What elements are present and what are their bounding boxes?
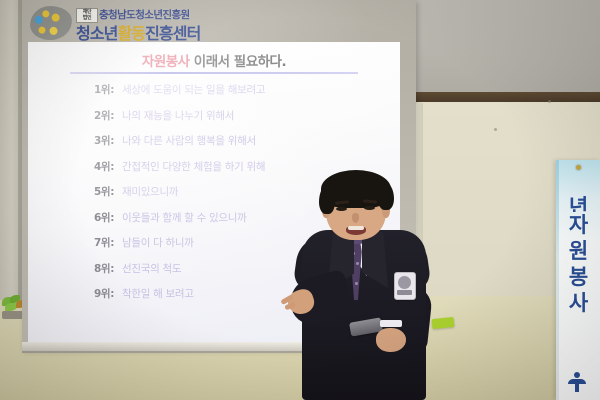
- item-text: 나와 다른 사람의 행복을 위해서: [122, 133, 256, 148]
- presenter-shirt-cuff: [380, 320, 402, 327]
- list-item: 2위: 나의 재능을 나누기 위해서: [28, 104, 400, 130]
- banner-char: 원: [556, 238, 600, 264]
- item-text: 이웃들과 함께 할 수 있으니까: [122, 210, 246, 225]
- wall-mark: [494, 128, 497, 131]
- slide-title-highlight: 자원봉사: [142, 54, 190, 70]
- presenter-name-badge: [394, 272, 416, 300]
- wall-trim-rail: [412, 92, 600, 102]
- banner-char: 봉: [556, 264, 600, 290]
- item-text: 재미있으니까: [122, 184, 178, 199]
- screenshot-scene: 재단 법인 충청남도청소년진흥원 청소년활동진흥센터 자원봉사 이래서 필요하다…: [0, 0, 600, 400]
- presenter-teeth: [348, 226, 364, 230]
- wall-screw: [548, 100, 551, 103]
- item-text: 남들이 다 하니까: [122, 235, 194, 250]
- item-text: 선진국의 척도: [122, 261, 181, 276]
- item-text: 나의 재능을 나누기 위해서: [122, 108, 234, 123]
- organization-logo: 재단 법인 충청남도청소년진흥원 청소년활동진흥센터: [30, 4, 210, 42]
- item-text: 간접적인 다양한 체험을 하기 위해: [122, 159, 265, 174]
- presenter-right-hand: [376, 328, 406, 352]
- presenter-hair-side-right: [378, 182, 394, 210]
- presenter-hair-side-left: [319, 184, 335, 214]
- presenter-eye-right: [364, 206, 375, 210]
- slide-title: 자원봉사 이래서 필요하다.: [28, 50, 400, 70]
- item-rank: 4위:: [72, 159, 114, 174]
- title-underline: [70, 72, 358, 74]
- presenter-eye-left: [336, 207, 347, 211]
- banner-char: 자: [556, 212, 600, 238]
- item-rank: 5위:: [72, 184, 114, 199]
- item-text: 착한일 해 보려고: [122, 286, 194, 301]
- item-text: 세상에 도움이 되는 일을 해보려고: [122, 82, 265, 97]
- item-rank: 3위:: [72, 133, 114, 148]
- badge-text-block: [397, 290, 412, 295]
- logo-center-part-1: 청소년: [76, 24, 117, 43]
- list-item: 1위: 세상에 도움이 되는 일을 해보려고: [28, 78, 400, 104]
- logo-center-part-2: 활동: [117, 24, 145, 43]
- presenter: [288, 168, 434, 400]
- item-rank: 6위:: [72, 210, 114, 225]
- badge-photo-icon: [398, 276, 411, 289]
- presenter-nose: [352, 213, 359, 223]
- item-rank: 9위:: [72, 286, 114, 301]
- logo-center-part-3: 진흥센터: [145, 24, 200, 43]
- logo-emblem-icon: [29, 5, 73, 42]
- banner-person-icon: [568, 372, 586, 392]
- item-rank: 2위:: [72, 108, 114, 123]
- banner-text-column: 년 자 원 봉 사: [556, 196, 600, 316]
- banner-char: 년: [556, 196, 600, 212]
- list-item: 3위: 나와 다른 사람의 행복을 위해서: [28, 129, 400, 155]
- item-rank: 1위:: [72, 82, 114, 97]
- logo-center-name: 청소년활동진흥센터: [76, 20, 200, 44]
- banner-char: 사: [556, 290, 600, 316]
- slide-title-rest: 이래서 필요하다.: [190, 54, 286, 70]
- item-rank: 7위:: [72, 235, 114, 250]
- item-rank: 8위:: [72, 261, 114, 276]
- banner-pin-icon: [576, 165, 581, 170]
